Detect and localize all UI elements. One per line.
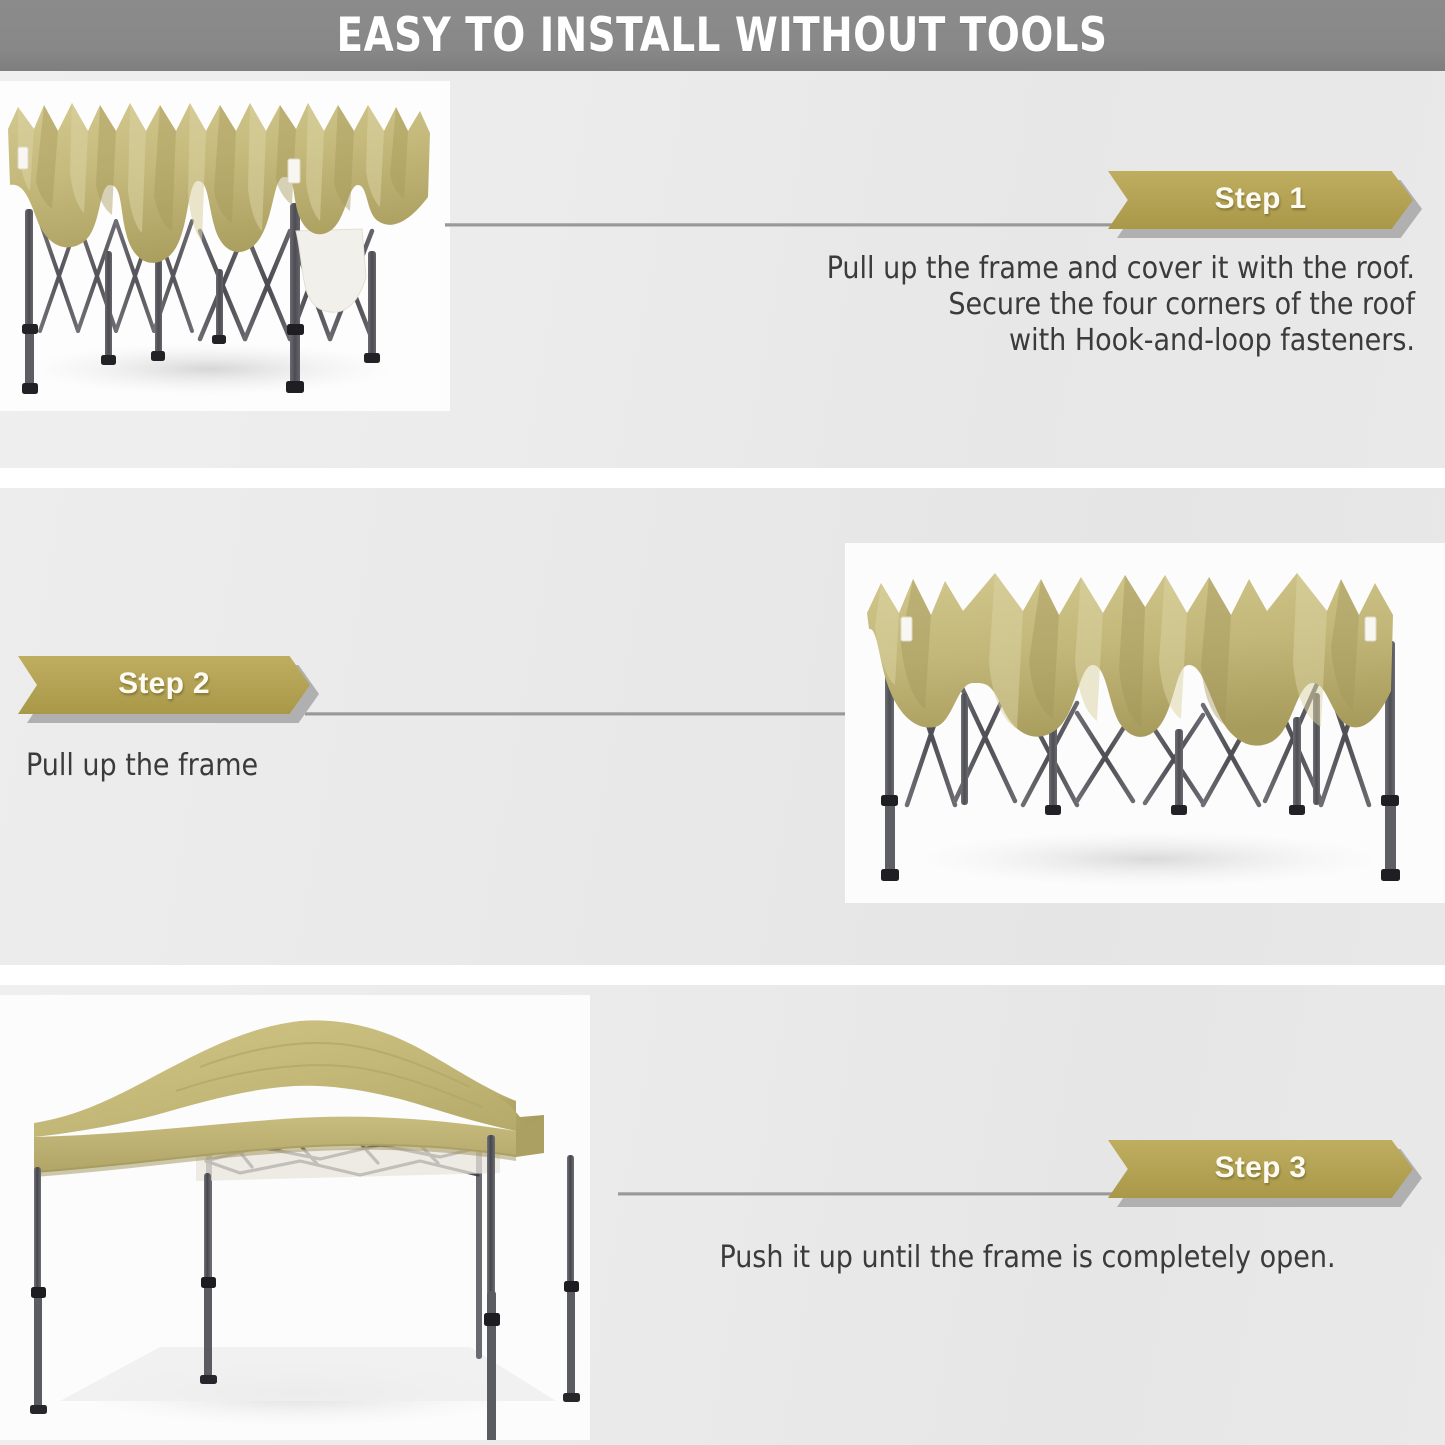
step-2-section: Step 2 Pull up the frame bbox=[0, 488, 1445, 965]
step-3-badge-face: Step 3 bbox=[1108, 1140, 1413, 1198]
step-3-badge-label: Step 3 bbox=[1215, 1151, 1307, 1187]
step-3-badge: Step 3 bbox=[1108, 1140, 1413, 1198]
step-2-badge: Step 2 bbox=[18, 656, 310, 714]
step-1-badge: Step 1 bbox=[1108, 171, 1413, 229]
step-2-connector-line bbox=[305, 712, 880, 716]
canopy-folded-illustration bbox=[0, 81, 450, 411]
step-1-description: Pull up the frame and cover it with the … bbox=[640, 251, 1415, 359]
step-1-section: Step 1 Pull up the frame and cover it wi… bbox=[0, 71, 1445, 468]
canopy-open-illustration bbox=[0, 995, 590, 1440]
step-3-section: Step 3 Push it up until the frame is com… bbox=[0, 985, 1445, 1445]
section-divider-2 bbox=[0, 965, 1445, 985]
section-divider-1 bbox=[0, 468, 1445, 488]
step-3-description: Push it up until the frame is completely… bbox=[640, 1240, 1415, 1276]
step-1-badge-face: Step 1 bbox=[1108, 171, 1413, 229]
page-title: EASY TO INSTALL WITHOUT TOOLS bbox=[337, 8, 1108, 63]
header-bar: EASY TO INSTALL WITHOUT TOOLS bbox=[0, 0, 1445, 71]
step-1-connector-line bbox=[445, 223, 1117, 227]
infographic-page: EASY TO INSTALL WITHOUT TOOLS bbox=[0, 0, 1445, 1445]
step-2-badge-face: Step 2 bbox=[18, 656, 310, 714]
step-3-connector-line bbox=[618, 1192, 1118, 1196]
canopy-half-open-illustration bbox=[845, 543, 1445, 903]
step-1-badge-label: Step 1 bbox=[1215, 182, 1307, 218]
step-2-description: Pull up the frame bbox=[26, 748, 586, 784]
step-2-badge-label: Step 2 bbox=[118, 667, 210, 703]
